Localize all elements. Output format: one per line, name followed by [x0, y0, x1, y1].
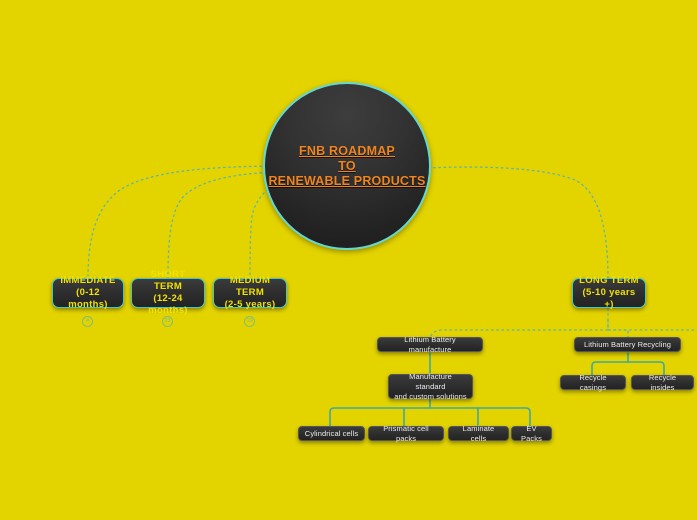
node-long-term[interactable]: LONG TERM (5-10 years +) — [572, 278, 646, 308]
node-lithium-battery-manufacture-label: Lithium Battery manufacture — [383, 335, 477, 355]
root-node[interactable]: FNB ROADMAP TO RENEWABLE PRODUCTS — [263, 82, 431, 250]
node-short-term[interactable]: SHORT TERM (12-24 months) — [131, 278, 205, 308]
badge-immediate-count[interactable]: 4 — [82, 316, 93, 327]
badge-short-term-count[interactable]: 23 — [162, 316, 173, 327]
node-medium-term[interactable]: MEDIUM TERM (2-5 years) — [213, 278, 287, 308]
node-recycle-casings[interactable]: Recycle casings — [560, 375, 626, 390]
edge-longterm-rightedge — [608, 320, 697, 330]
node-prismatic-cell-packs[interactable]: Prismatic cell packs — [368, 426, 444, 441]
node-recycle-insides-label: Recycle insides — [637, 373, 688, 393]
node-laminate-cells[interactable]: Laminate cells — [448, 426, 509, 441]
root-node-label: FNB ROADMAP TO RENEWABLE PRODUCTS — [268, 144, 425, 189]
node-short-term-label: SHORT TERM (12-24 months) — [136, 269, 200, 317]
node-medium-term-label: MEDIUM TERM (2-5 years) — [218, 275, 282, 311]
node-immediate-label: IMMEDIATE (0-12 months) — [57, 275, 119, 311]
node-immediate[interactable]: IMMEDIATE (0-12 months) — [52, 278, 124, 308]
node-lithium-battery-manufacture[interactable]: Lithium Battery manufacture — [377, 337, 483, 352]
node-prismatic-cell-packs-label: Prismatic cell packs — [374, 424, 438, 444]
node-manufacture-solutions-label: Manufacture standard and custom solution… — [394, 372, 467, 402]
node-lithium-battery-recycling[interactable]: Lithium Battery Recycling — [574, 337, 681, 352]
node-ev-packs-label: EV Packs — [517, 424, 546, 444]
node-cylindrical-cells[interactable]: Cylindrical cells — [298, 426, 365, 441]
mindmap-canvas: FNB ROADMAP TO RENEWABLE PRODUCTS IMMEDI… — [0, 0, 697, 520]
node-recycle-insides[interactable]: Recycle insides — [631, 375, 694, 390]
node-recycle-casings-label: Recycle casings — [566, 373, 620, 393]
edge-root-longterm — [428, 167, 608, 278]
badge-medium-term-count[interactable]: 19 — [244, 316, 255, 327]
connector-edges — [0, 0, 697, 520]
node-lithium-battery-recycling-label: Lithium Battery Recycling — [584, 340, 671, 350]
edge-root-immediate — [88, 166, 288, 278]
node-long-term-label: LONG TERM (5-10 years +) — [577, 275, 641, 311]
node-manufacture-solutions[interactable]: Manufacture standard and custom solution… — [388, 374, 473, 399]
node-laminate-cells-label: Laminate cells — [454, 424, 503, 444]
node-cylindrical-cells-label: Cylindrical cells — [305, 429, 358, 439]
node-ev-packs[interactable]: EV Packs — [511, 426, 552, 441]
